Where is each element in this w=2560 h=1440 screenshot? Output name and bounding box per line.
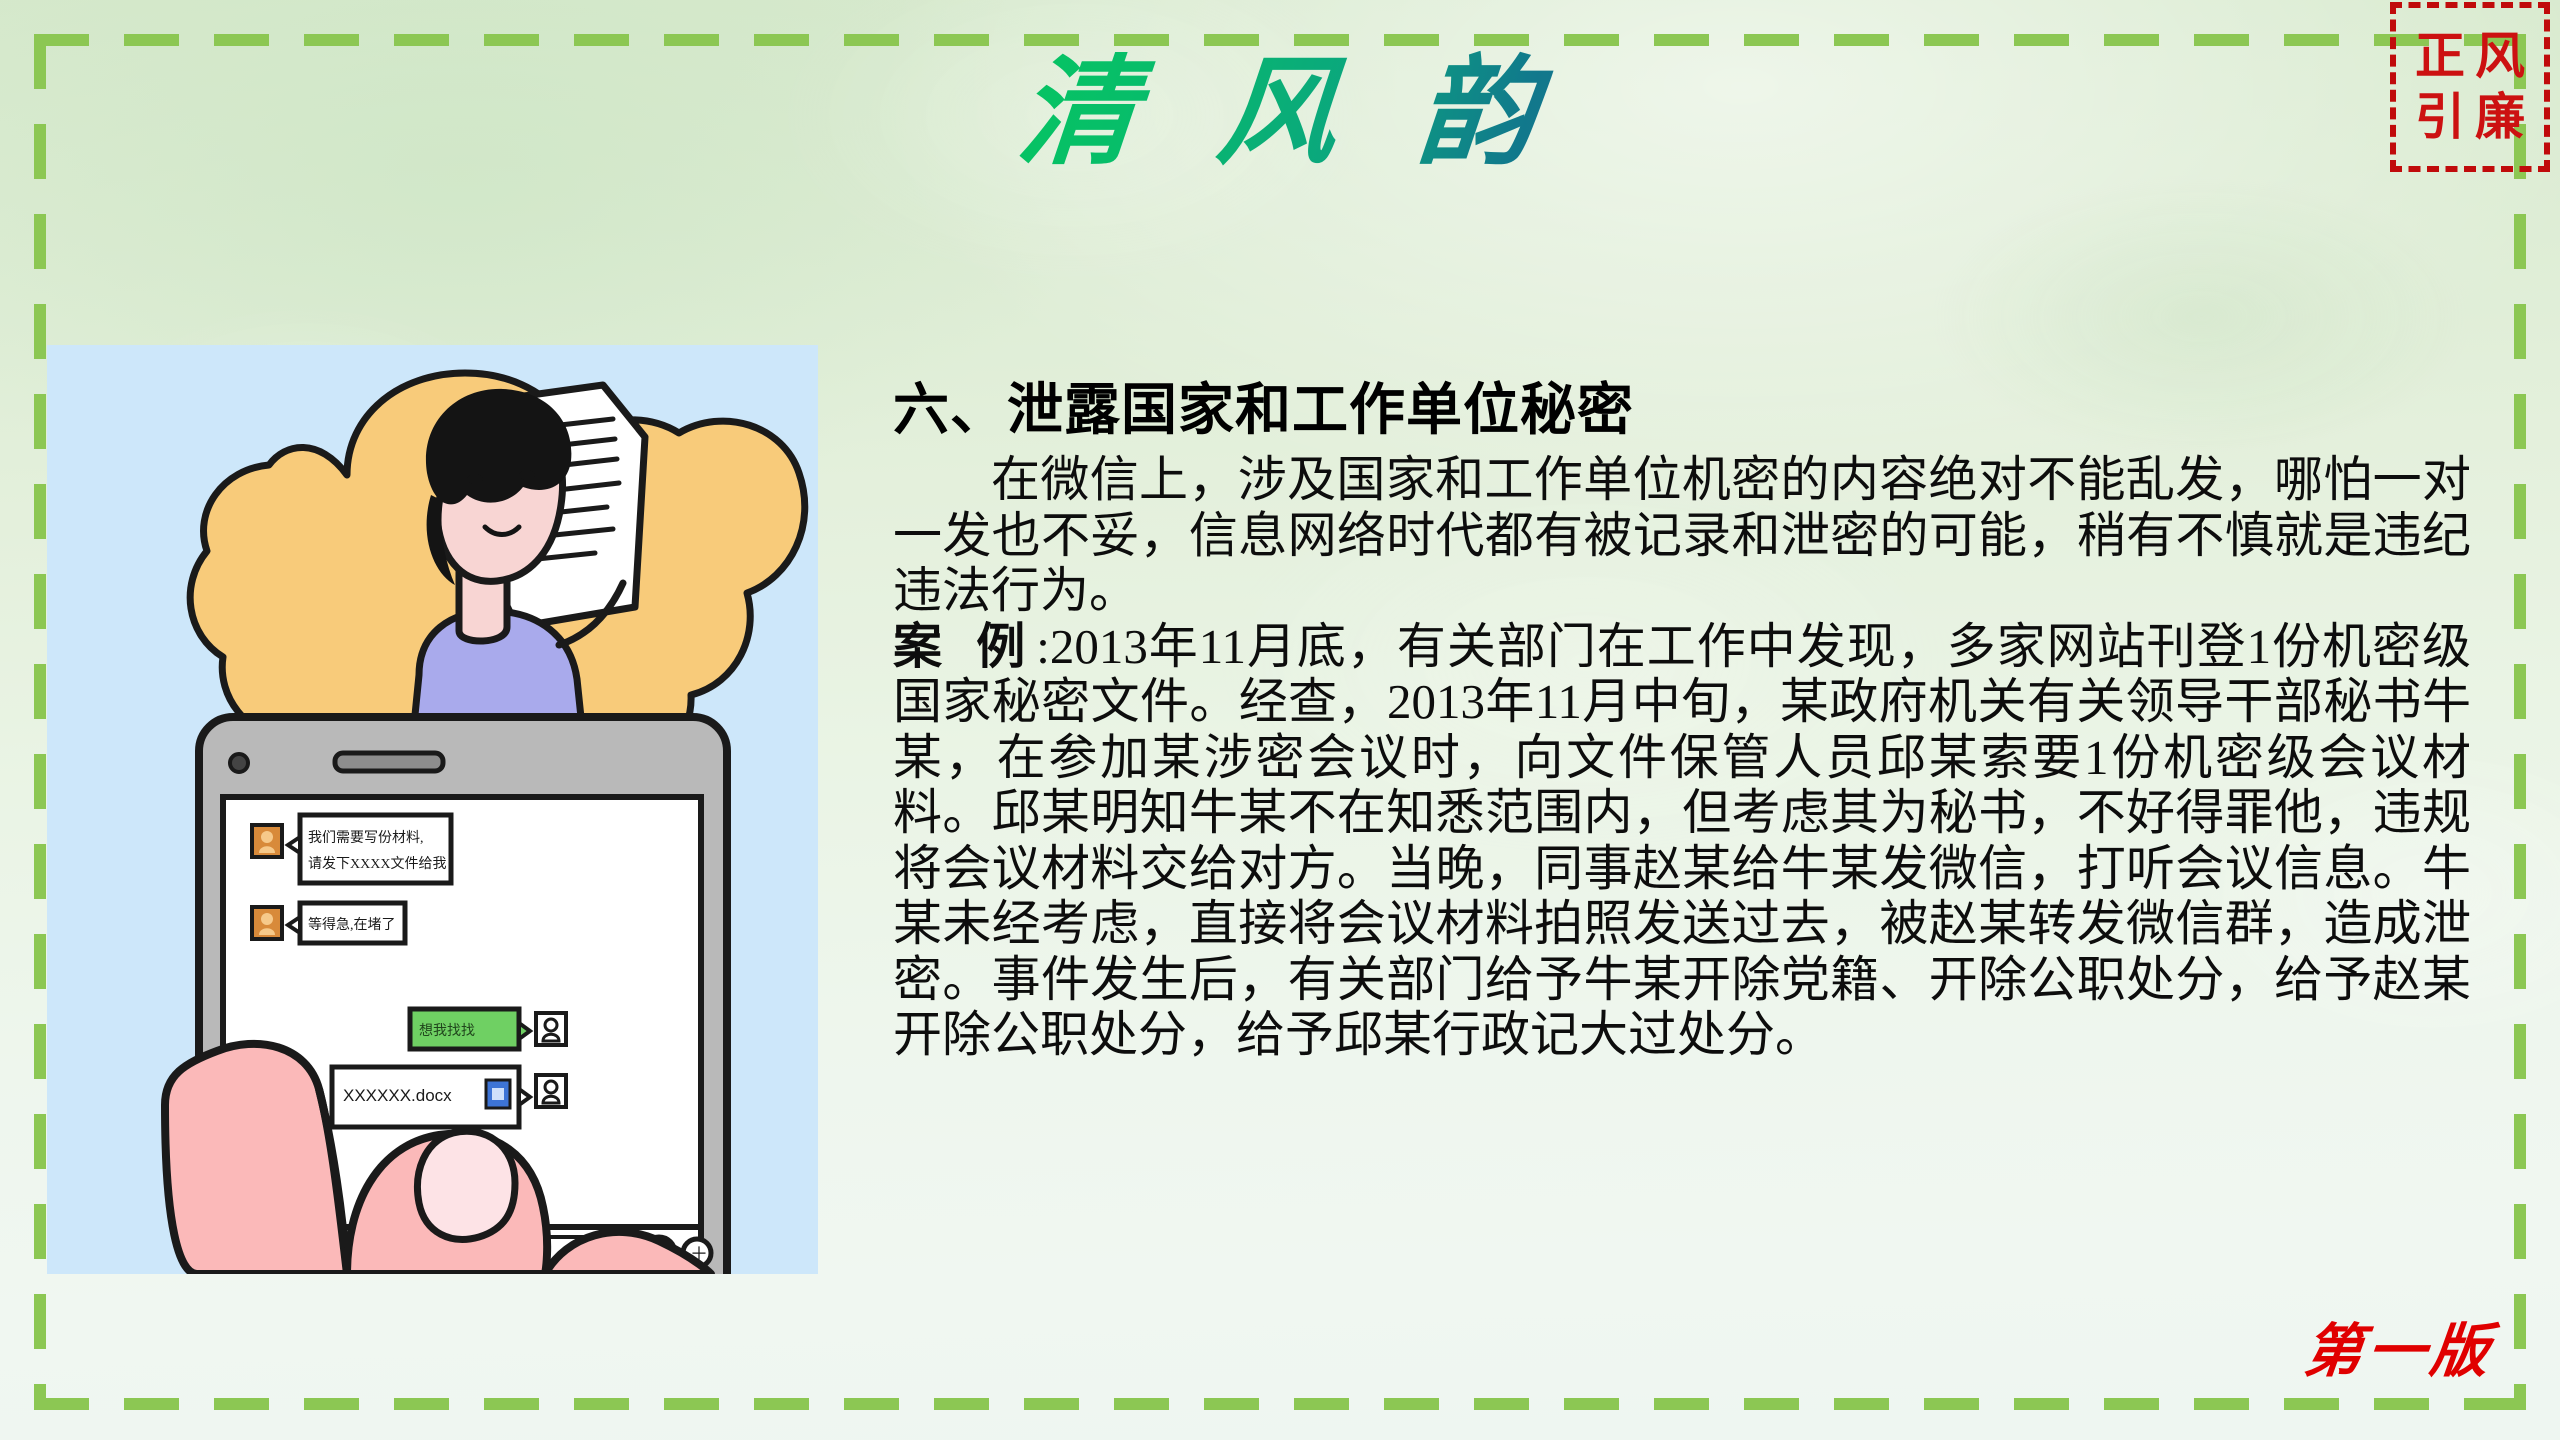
case-separator: : [1036, 619, 1050, 674]
page-number-label: 第一版 [2301, 1304, 2499, 1388]
article-heading: 六、泄露国家和工作单位秘密 [893, 378, 2471, 444]
svg-text:我们需要写份材料,: 我们需要写份材料, [308, 830, 424, 846]
frame-border-right [2514, 34, 2526, 1410]
illustration-wechat-leak: 涉密文件 不可在 网络上传播! [47, 345, 818, 1274]
case-text: 2013年11月底，有关部门在工作中发现，多家网站刊登1份机密级国家秘密文件。经… [893, 619, 2471, 1063]
masthead-title: 清 风 韵 [974, 42, 1607, 186]
article-paragraph-intro: 在微信上，涉及国家和工作单位机密的内容绝对不能乱发，哪怕一对一发也不妥，信息网络… [893, 452, 2471, 619]
frame-border-bottom [34, 1398, 2526, 1410]
article-column: 六、泄露国家和工作单位秘密 在微信上，涉及国家和工作单位机密的内容绝对不能乱发，… [893, 378, 2471, 1063]
article-body: 在微信上，涉及国家和工作单位机密的内容绝对不能乱发，哪怕一对一发也不妥，信息网络… [893, 452, 2471, 1063]
frame-border-left [34, 34, 46, 1410]
seal-line-2: 引廉 [2405, 88, 2535, 147]
svg-text:XXXXXX.docx: XXXXXX.docx [343, 1086, 452, 1105]
svg-text:想我找找: 想我找找 [419, 1023, 475, 1039]
seal-line-1: 正风 [2405, 27, 2535, 86]
masthead-seal-badge: 正风 引廉 [2390, 2, 2550, 172]
svg-text:请发下XXXX文件给我: 请发下XXXX文件给我 [308, 856, 446, 872]
svg-text:等得急,在堵了: 等得急,在堵了 [308, 916, 396, 933]
illustration-svg: 涉密文件 不可在 网络上传播! [47, 345, 818, 1274]
newspaper-page: 清 风 韵 正风 引廉 涉密文件 不可在 [0, 0, 2560, 1440]
case-label: 案 例 [893, 619, 1036, 674]
article-paragraph-case: 案 例:2013年11月底，有关部门在工作中发现，多家网站刊登1份机密级国家秘密… [893, 619, 2471, 1063]
